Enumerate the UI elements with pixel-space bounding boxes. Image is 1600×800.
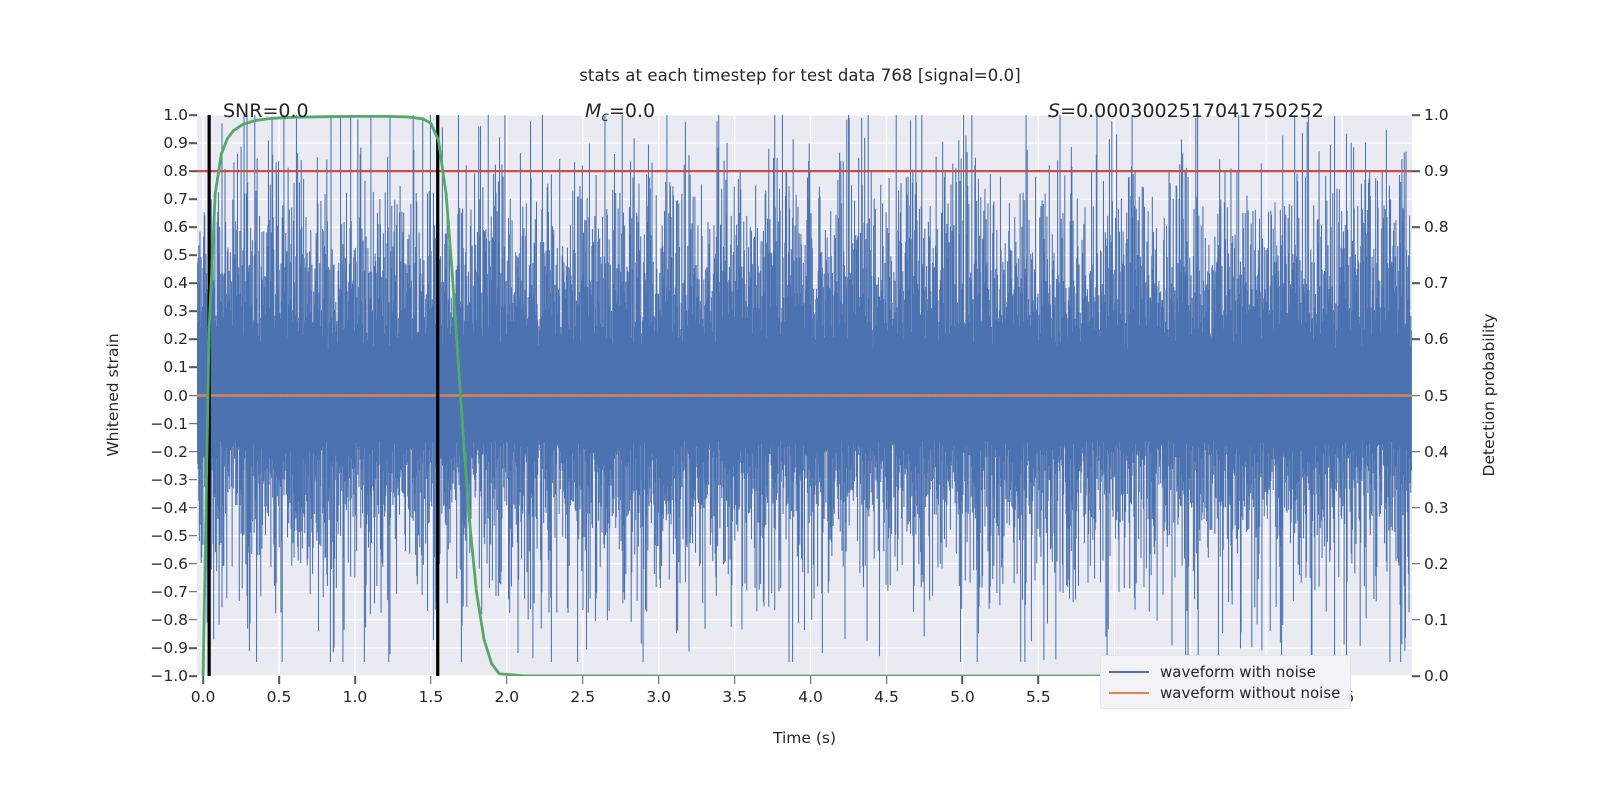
y-axis-right-tick-label: 0.0: [1424, 667, 1449, 685]
x-axis-tick-label: 5.0: [950, 688, 975, 706]
figure-canvas: stats at each timestep for test data 768…: [0, 0, 1600, 800]
y-axis-left-tick-label: 0.6: [163, 218, 188, 236]
y-axis-left-tick-mark: [189, 451, 197, 453]
y-axis-right-tick-mark: [1412, 451, 1420, 453]
legend-label-waveform-with-noise: waveform with noise: [1160, 663, 1316, 681]
y-axis-left-tick-mark: [189, 591, 197, 593]
y-axis-left-tick-mark: [189, 114, 197, 116]
y-axis-left-tick-mark: [189, 423, 197, 425]
y-axis-left-tick-label: −0.5: [150, 527, 188, 545]
x-axis-tick-mark: [506, 676, 508, 684]
y-axis-left-tick-mark: [189, 675, 197, 677]
legend: waveform with noise waveform without noi…: [1100, 655, 1351, 709]
y-axis-left-tick-mark: [189, 395, 197, 397]
waveform-with-noise-series: [197, 115, 1411, 662]
y-axis-left-tick-label: 0.5: [163, 246, 188, 264]
y-axis-right-tick-label: 0.9: [1424, 162, 1449, 180]
x-axis-tick-label: 1.0: [343, 688, 368, 706]
annotation-mc-subscript: c: [601, 109, 609, 125]
annotation-s-symbol: S: [1048, 100, 1060, 122]
x-axis-tick-label: 5.5: [1026, 688, 1051, 706]
y-axis-left-tick-mark: [189, 254, 197, 256]
legend-swatch-blue-line: [1109, 671, 1149, 673]
x-axis-tick-mark: [734, 676, 736, 684]
y-axis-left-tick-label: −0.3: [150, 471, 188, 489]
plot-svg: [197, 115, 1412, 676]
y-axis-left-tick-label: −0.4: [150, 499, 188, 517]
y-axis-left-tick-label: 0.9: [163, 134, 188, 152]
y-axis-left-tick-mark: [189, 339, 197, 341]
y-axis-left-tick-label: 0.3: [163, 302, 188, 320]
y-axis-left-tick-mark: [189, 563, 197, 565]
y-axis-left-tick-mark: [189, 198, 197, 200]
y-axis-right-tick-label: 0.7: [1424, 274, 1449, 292]
y-axis-right-tick-mark: [1412, 114, 1420, 116]
x-axis-tick-mark: [278, 676, 280, 684]
annotation-mc-value: =0.0: [609, 100, 655, 122]
y-axis-right-tick-mark: [1412, 619, 1420, 621]
x-axis-tick-mark: [582, 676, 584, 684]
annotation-statistic: S=0.0003002517041750252: [1048, 100, 1324, 122]
x-axis-tick-label: 4.0: [798, 688, 823, 706]
x-axis-tick-mark: [962, 676, 964, 684]
y-axis-left-tick-label: −0.9: [150, 639, 188, 657]
y-axis-right-tick-label: 0.3: [1424, 499, 1449, 517]
y-axis-left-tick-label: 0.8: [163, 162, 188, 180]
y-axis-left-tick-mark: [189, 479, 197, 481]
x-axis-tick-label: 0.0: [191, 688, 216, 706]
x-axis-tick-label: 0.5: [267, 688, 292, 706]
y-axis-left-tick-label: −1.0: [150, 667, 188, 685]
y-axis-left-tick-mark: [189, 170, 197, 172]
x-axis-label: Time (s): [197, 729, 1412, 747]
y-axis-right-tick-mark: [1412, 226, 1420, 228]
x-axis-tick-label: 2.0: [494, 688, 519, 706]
y-axis-right-tick-label: 0.1: [1424, 611, 1449, 629]
y-axis-left-tick-label: −0.6: [150, 555, 188, 573]
legend-item-waveform-with-noise[interactable]: waveform with noise: [1109, 661, 1340, 682]
y-axis-left-tick-label: −0.8: [150, 611, 188, 629]
y-axis-left-tick-label: −0.7: [150, 583, 188, 601]
x-axis-tick-mark: [1038, 676, 1040, 684]
x-axis-tick-label: 2.5: [570, 688, 595, 706]
annotation-mc-symbol: M: [585, 100, 601, 122]
y-axis-right-tick-label: 0.8: [1424, 218, 1449, 236]
y-axis-right-tick-label: 1.0: [1424, 106, 1449, 124]
legend-label-waveform-without-noise: waveform without noise: [1160, 684, 1340, 702]
y-axis-left-tick-label: 0.2: [163, 330, 188, 348]
x-axis-tick-mark: [430, 676, 432, 684]
y-axis-left-tick-label: −0.2: [150, 443, 188, 461]
y-axis-right-tick-mark: [1412, 170, 1420, 172]
y-axis-left-tick-label: 1.0: [163, 106, 188, 124]
y-axis-left-tick-mark: [189, 507, 197, 509]
y-axis-right-tick-label: 0.2: [1424, 555, 1449, 573]
y-axis-right-tick-mark: [1412, 675, 1420, 677]
y-axis-left-tick-mark: [189, 367, 197, 369]
y-axis-right-label: Detection probability: [1480, 314, 1498, 477]
y-axis-right-tick-label: 0.5: [1424, 387, 1449, 405]
chart-title: stats at each timestep for test data 768…: [0, 66, 1600, 85]
x-axis-tick-mark: [810, 676, 812, 684]
x-axis-tick-mark: [202, 676, 204, 684]
y-axis-left-tick-label: 0.7: [163, 190, 188, 208]
x-axis-tick-label: 4.5: [874, 688, 899, 706]
plot-area: [197, 115, 1412, 676]
y-axis-right-tick-label: 0.6: [1424, 330, 1449, 348]
y-axis-right-tick-mark: [1412, 283, 1420, 285]
y-axis-left-tick-mark: [189, 535, 197, 537]
y-axis-left-tick-label: −0.1: [150, 415, 188, 433]
y-axis-right-tick-label: 0.4: [1424, 443, 1449, 461]
y-axis-left-tick-mark: [189, 142, 197, 144]
legend-swatch-orange-line: [1109, 692, 1149, 694]
y-axis-right-tick-mark: [1412, 507, 1420, 509]
annotation-chirp-mass: Mc=0.0: [585, 100, 655, 125]
x-axis-tick-label: 1.5: [419, 688, 444, 706]
y-axis-right-tick-mark: [1412, 395, 1420, 397]
x-axis-tick-mark: [354, 676, 356, 684]
y-axis-left-tick-mark: [189, 647, 197, 649]
annotation-s-value: =0.0003002517041750252: [1060, 100, 1324, 122]
annotation-snr: SNR=0.0: [223, 100, 309, 122]
y-axis-left-tick-mark: [189, 619, 197, 621]
y-axis-left-tick-mark: [189, 226, 197, 228]
x-axis-tick-mark: [886, 676, 888, 684]
x-axis-tick-label: 3.5: [722, 688, 747, 706]
legend-item-waveform-without-noise[interactable]: waveform without noise: [1109, 682, 1340, 703]
y-axis-left-tick-mark: [189, 283, 197, 285]
x-axis-tick-mark: [658, 676, 660, 684]
y-axis-right-tick-mark: [1412, 339, 1420, 341]
y-axis-left-tick-mark: [189, 311, 197, 313]
y-axis-left-tick-label: 0.4: [163, 274, 188, 292]
x-axis-tick-label: 3.0: [646, 688, 671, 706]
y-axis-left-tick-label: 0.0: [163, 387, 188, 405]
y-axis-left-tick-label: 0.1: [163, 358, 188, 376]
y-axis-right-tick-mark: [1412, 563, 1420, 565]
y-axis-left-label: Whitened strain: [104, 333, 122, 456]
